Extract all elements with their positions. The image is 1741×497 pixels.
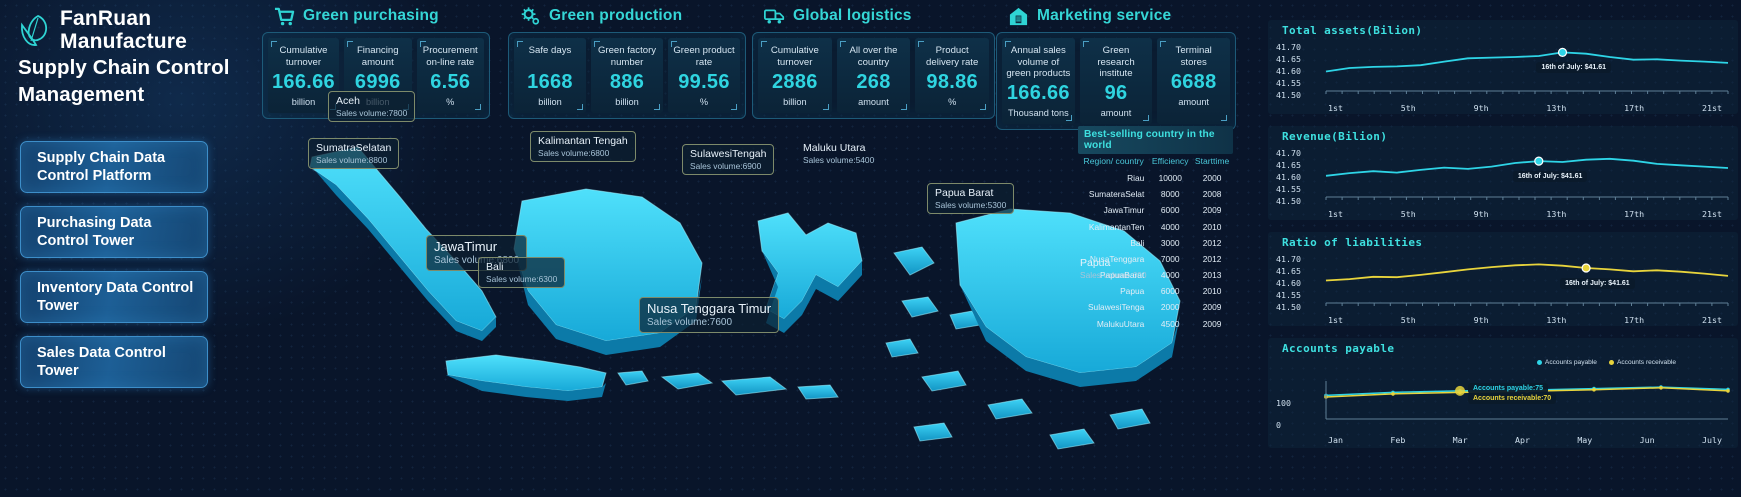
kpi-card[interactable]: Safe days 1668 billion — [514, 38, 586, 113]
kpi-card-value: 98.86 — [919, 71, 985, 94]
kpi-card-value: 166.66 — [272, 71, 335, 94]
kpi-card-name: Green factory number — [595, 45, 659, 69]
kpi-card[interactable]: All over the country 268 amount — [837, 38, 911, 113]
kpi-card[interactable]: Procurement on-line rate 6.56 % — [417, 38, 485, 113]
kpi-card[interactable]: Cumulative turnover 2886 billion — [758, 38, 832, 113]
chart-total-assets[interactable]: Total assets(Bilion) 41.7041.6541.6041.5… — [1268, 20, 1738, 114]
table-title: Best-selling country in the world — [1078, 126, 1233, 154]
kpi-card[interactable]: Green factory number 886 billion — [591, 38, 663, 113]
chart-x-axis: 1st5th9th13th17th21st — [1268, 209, 1738, 219]
table-row[interactable]: Riau100002000 — [1078, 170, 1233, 186]
sidebar-item-purchasing-tower[interactable]: Purchasing Data Control Tower — [20, 206, 208, 258]
table-row[interactable]: Papua60002010 — [1078, 283, 1233, 299]
chart-x-axis: 1st5th9th13th17th21st — [1268, 103, 1738, 113]
kpi-card-value: 886 — [595, 71, 659, 94]
map-tooltip-maluku-utara[interactable]: Maluku Utara Sales volume:5400 — [795, 138, 882, 169]
chart-x-axis: JanFebMarAprMayJunJuly — [1268, 435, 1738, 445]
kpi-card-name: Procurement on-line rate — [421, 45, 481, 69]
best-selling-country-table: Best-selling country in the world Region… — [1078, 126, 1233, 332]
kpi-card-value: 6688 — [1161, 71, 1226, 94]
table-col-starttime: Starttime — [1191, 154, 1233, 170]
map-tooltip-name: SulawesiTengah — [690, 148, 766, 161]
table-row[interactable]: MalukuUtara45002009 — [1078, 316, 1233, 332]
kpi-card[interactable]: Green product rate 99.56 % — [668, 38, 740, 113]
kpi-group-global-logistics: Global logistics Cumulative turnover 288… — [752, 0, 995, 119]
kpi-card[interactable]: Product delivery rate 98.86 % — [915, 38, 989, 113]
page-title-line2: Management — [18, 84, 248, 107]
map-tooltip-name: Aceh — [336, 95, 407, 108]
chart-title: Total assets(Bilion) — [1268, 20, 1738, 39]
chart-plot — [1268, 251, 1738, 311]
map-tooltip-sumatraselatan[interactable]: SumatraSelatan Sales volume:8800 — [308, 138, 399, 169]
page-title-line1: Supply Chain Control — [18, 57, 248, 80]
chart-legend: Accounts payableAccounts receivable — [1537, 359, 1676, 366]
chart-plot — [1268, 145, 1738, 205]
map-tooltip-value: Sales volume:6900 — [690, 161, 766, 171]
kpi-card-name: All over the country — [841, 45, 907, 69]
chart-annotation: 16th of July: $41.61 — [1513, 171, 1588, 182]
table-row[interactable]: SumateraSelat80002008 — [1078, 186, 1233, 202]
warehouse-icon — [1008, 6, 1029, 27]
gears-icon — [520, 6, 541, 27]
sidebar-item-supply-chain-platform[interactable]: Supply Chain Data Control Platform — [20, 141, 208, 193]
kpi-card-name: Cumulative turnover — [762, 45, 828, 69]
map-tooltip-bali[interactable]: Bali Sales volume:6300 — [478, 257, 565, 288]
table-row[interactable]: NusaTenggara70002012 — [1078, 251, 1233, 267]
map-tooltip-value: Sales volume:7800 — [336, 108, 407, 118]
chart-accounts-payable[interactable]: Accounts payable Accounts payableAccount… — [1268, 338, 1738, 448]
chart-annotation: 16th of July: $41.61 — [1536, 62, 1611, 73]
kpi-card-name: Financing amount — [348, 45, 408, 69]
leaf-icon — [18, 12, 52, 52]
table-row[interactable]: KalimantanTen40002010 — [1078, 218, 1233, 234]
map-tooltip-value: Sales volume:7600 — [647, 317, 771, 329]
kpi-group-title: Global logistics — [793, 7, 912, 25]
truck-icon — [764, 6, 785, 27]
chart-ratio-of-liabilities[interactable]: Ratio of liabilities 41.7041.6541.6041.5… — [1268, 232, 1738, 326]
sidebar-item-label: Inventory Data Control Tower — [37, 279, 197, 315]
map-tooltip-nusa-tenggara-timur[interactable]: Nusa Tenggara Timur Sales volume:7600 — [639, 297, 779, 333]
map-tooltip-aceh[interactable]: Aceh Sales volume:7800 — [328, 91, 415, 122]
map-tooltip-name: Maluku Utara — [803, 142, 874, 155]
kpi-card-name: Terminal stores — [1161, 45, 1226, 69]
map-tooltip-value: Sales volume:6800 — [538, 148, 628, 158]
table-row[interactable]: PapuaBarat40002013 — [1078, 267, 1233, 283]
table-col-efficiency: Efficiency — [1149, 154, 1191, 170]
chart-annotation: Accounts receivable:70 — [1468, 393, 1556, 404]
map-tooltip-value: Sales volume:8800 — [316, 155, 391, 165]
map-tooltip-papua-barat[interactable]: Papua Barat Sales volume:5300 — [927, 183, 1014, 214]
map-tooltip-name: Papua Barat — [935, 187, 1006, 200]
sidebar-item-label: Sales Data Control Tower — [37, 344, 197, 380]
sidebar-item-label: Supply Chain Data Control Platform — [37, 149, 197, 185]
kpi-card-name: Safe days — [518, 45, 582, 69]
kpi-card-value: 1668 — [518, 71, 582, 94]
sidebar-nav: Supply Chain Data Control Platform Purch… — [20, 141, 208, 401]
map-tooltip-value: Sales volume:5300 — [935, 200, 1006, 210]
company-name-line2: Manufacture — [60, 31, 187, 54]
chart-title: Ratio of liabilities — [1268, 232, 1738, 251]
chart-plot — [1268, 39, 1738, 99]
map-tooltip-name: Nusa Tenggara Timur — [647, 301, 771, 317]
kpi-card-name: Cumulative turnover — [272, 45, 335, 69]
kpi-card-value: 96 — [1084, 82, 1149, 105]
brand-header: FanRuan Manufacture Supply Chain Control… — [18, 8, 248, 106]
legend-item[interactable]: Accounts payable — [1537, 359, 1597, 366]
chart-annotation: 16th of July: $41.61 — [1560, 278, 1635, 289]
chart-title: Revenue(Bilion) — [1268, 126, 1738, 145]
map-tooltip-kalimantan-tengah[interactable]: Kalimantan Tengah Sales volume:6800 — [530, 131, 636, 162]
table-col-region: Region/ country — [1078, 154, 1149, 170]
chart-title: Accounts payable — [1268, 338, 1738, 357]
chart-x-axis: 1st5th9th13th17th21st — [1268, 315, 1738, 325]
company-name-line1: FanRuan — [60, 8, 187, 31]
chart-revenue[interactable]: Revenue(Bilion) 41.7041.6541.6041.5541.5… — [1268, 126, 1738, 220]
kpi-card-name: Annual sales volume of green products — [1006, 45, 1071, 80]
sidebar-item-inventory-tower[interactable]: Inventory Data Control Tower — [20, 271, 208, 323]
kpi-card-value: 2886 — [762, 71, 828, 94]
kpi-card-name: Green product rate — [672, 45, 736, 69]
table-header-row: Region/ country Efficiency Starttime — [1078, 154, 1233, 170]
kpi-card-value: 99.56 — [672, 71, 736, 94]
map-tooltip-name: SumatraSelatan — [316, 142, 391, 155]
kpi-card-name: Green research institute — [1084, 45, 1149, 80]
legend-item[interactable]: Accounts receivable — [1609, 359, 1676, 366]
table-row[interactable]: JawaTimur60002009 — [1078, 202, 1233, 218]
sidebar-item-sales-tower[interactable]: Sales Data Control Tower — [20, 336, 208, 388]
table-row[interactable]: Bali30002012 — [1078, 235, 1233, 251]
kpi-group-green-production: Green production Safe days 1668 billion … — [508, 0, 746, 119]
kpi-group-title: Marketing service — [1037, 7, 1171, 25]
map-tooltip-sulawesi-tengah[interactable]: SulawesiTengah Sales volume:6900 — [682, 144, 774, 175]
kpi-card-value: 268 — [841, 71, 907, 94]
map-tooltip-value: Sales volume:5400 — [803, 155, 874, 165]
map-tooltip-value: Sales volume:6300 — [486, 274, 557, 284]
map-tooltip-name: JawaTimur — [434, 239, 519, 255]
kpi-card-value: 166.66 — [1006, 82, 1071, 105]
kpi-group-title: Green production — [549, 7, 682, 25]
kpi-card-value: 6.56 — [421, 71, 481, 94]
map-tooltip-name: Kalimantan Tengah — [538, 135, 628, 148]
table-row[interactable]: SulawesiTenga20002009 — [1078, 299, 1233, 315]
kpi-group-title: Green purchasing — [303, 7, 439, 25]
kpi-card-name: Product delivery rate — [919, 45, 985, 69]
shopping-cart-icon — [274, 6, 295, 27]
sidebar-item-label: Purchasing Data Control Tower — [37, 214, 197, 250]
map-tooltip-name: Bali — [486, 261, 557, 274]
